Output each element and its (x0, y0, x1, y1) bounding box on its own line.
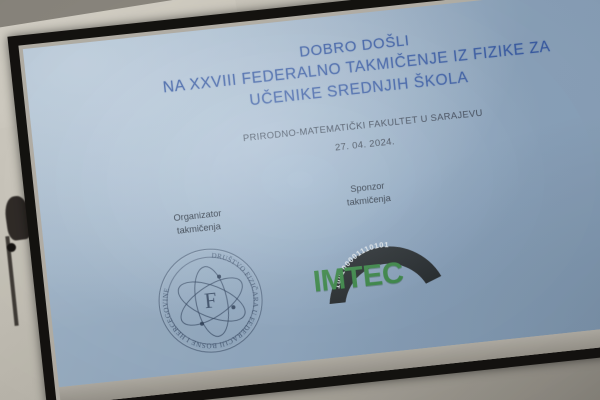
seal-center-letter: F (169, 259, 253, 343)
organizer-seal-logo: DRUŠTVO FIZIČARA U FEDERACIJI BOSNE I HE… (153, 243, 267, 357)
sponsor-caption: Sponzor takmičenja (307, 175, 429, 214)
atom-icon: F (169, 259, 253, 343)
projected-slide: DOBRO DOŠLI NA XXVIII FEDERALNO TAKMIČEN… (23, 0, 600, 387)
photo-stage: DOBRO DOŠLI NA XXVIII FEDERALNO TAKMIČEN… (0, 0, 600, 400)
imtec-sponsor-logo: 100100001110101 IMTEC (306, 217, 454, 311)
projection-screen-assembly: DOBRO DOŠLI NA XXVIII FEDERALNO TAKMIČEN… (0, 0, 600, 400)
organizer-caption: Organizator takmičenja (137, 203, 259, 242)
